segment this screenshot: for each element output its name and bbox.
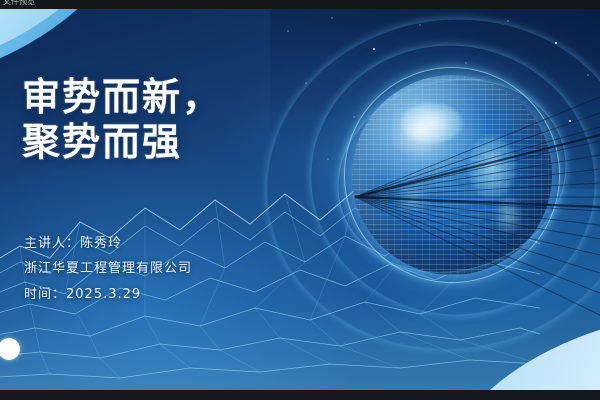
window-title: 文件预览 [3, 0, 35, 6]
slide-meta-presenter: 主讲人：陈秀玲 [24, 231, 192, 256]
slide-meta-company: 浙江华夏工程管理有限公司 [24, 256, 192, 281]
window-titlebar: 文件预览 [0, 0, 600, 9]
presentation-slide: 审势而新， 聚势而强 主讲人：陈秀玲 浙江华夏工程管理有限公司 时间：2025.… [0, 9, 600, 390]
slide-meta-block: 主讲人：陈秀玲 浙江华夏工程管理有限公司 时间：2025.3.29 [24, 231, 192, 307]
slide-title-line-2: 聚势而强 [22, 120, 222, 165]
window-bottom-bar [0, 390, 600, 400]
converging-beams-icon [300, 69, 600, 329]
app-window: 文件预览 [0, 0, 600, 400]
slide-meta-date: 时间：2025.3.29 [24, 282, 192, 307]
slide-title-block: 审势而新， 聚势而强 [22, 75, 222, 165]
slide-title-line-1: 审势而新， [22, 75, 222, 120]
